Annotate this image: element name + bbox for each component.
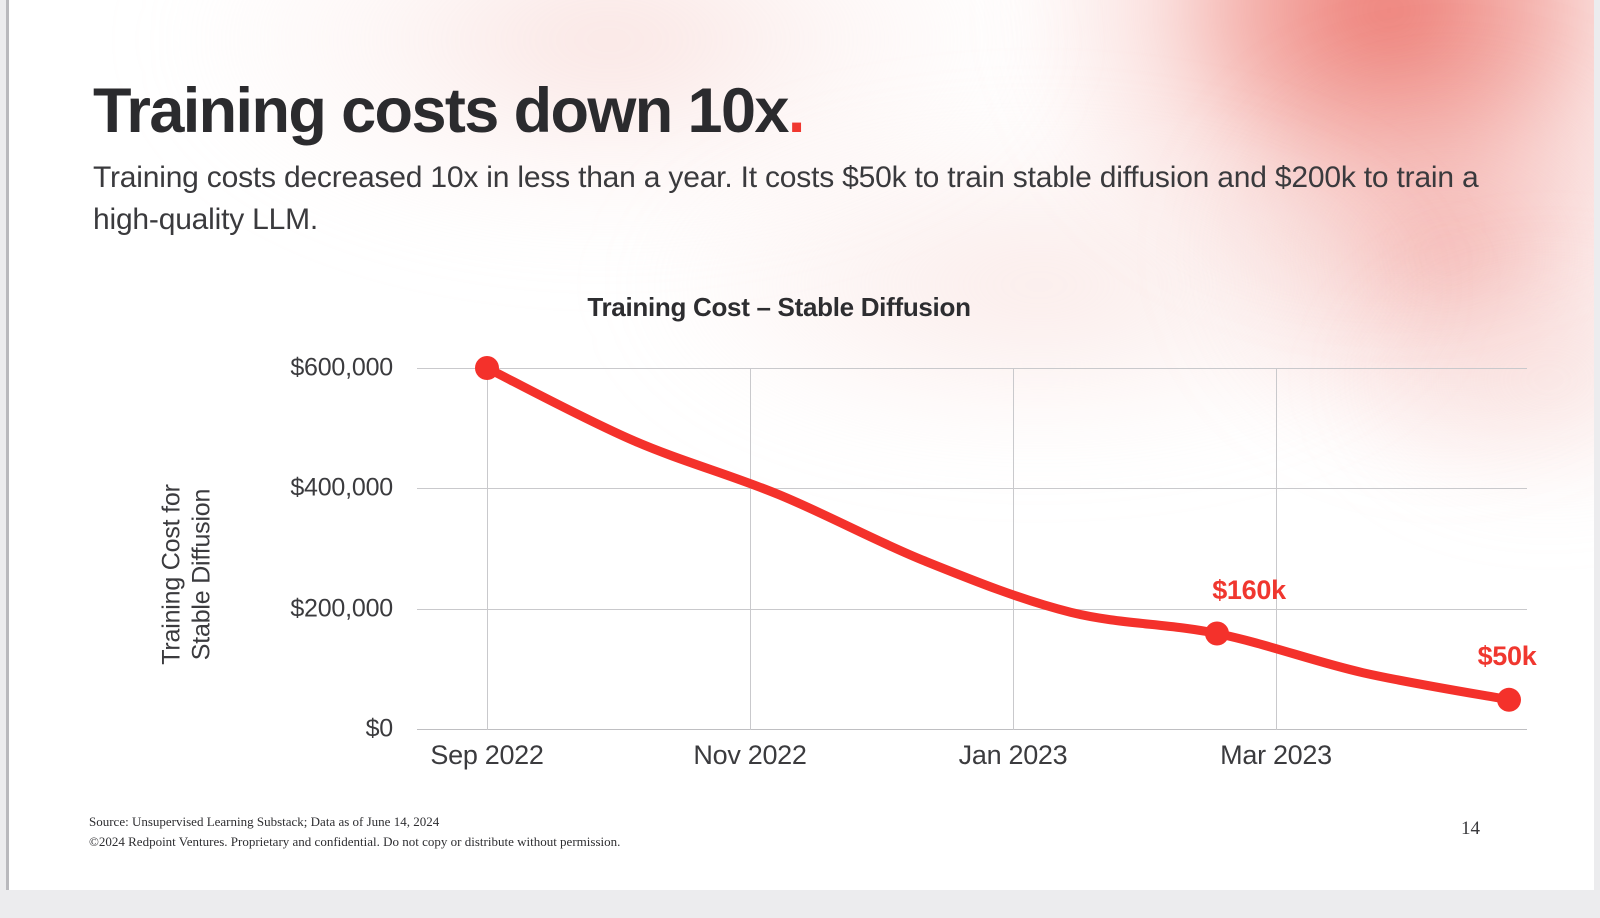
y-axis-title: Training Cost for Stable Diffusion	[158, 405, 217, 745]
slide-canvas: Training costs down 10x. Training costs …	[6, 0, 1594, 890]
series-marker	[1205, 622, 1229, 646]
footer-line-source: Source: Unsupervised Learning Substack; …	[89, 812, 620, 832]
series-marker	[1497, 688, 1521, 712]
footer-source-note: Source: Unsupervised Learning Substack; …	[89, 812, 620, 852]
chart-container: Training Cost – Stable Diffusion Trainin…	[79, 280, 1549, 800]
series-marker	[475, 356, 499, 380]
slide-root: Training costs down 10x. Training costs …	[0, 0, 1600, 918]
line-series-chart	[417, 368, 1527, 730]
page-title: Training costs down 10x.	[93, 78, 804, 144]
y-tick-label-0: $0	[215, 715, 415, 744]
y-axis-title-line-2: Stable Diffusion	[187, 489, 215, 660]
x-tick-label-sep-2022: Sep 2022	[430, 740, 543, 771]
x-tick-label-jan-2023: Jan 2023	[959, 740, 1068, 771]
slide-frame-bottom	[0, 890, 1600, 918]
series-marker-group	[475, 356, 1521, 712]
data-label-160k: $160k	[1212, 575, 1286, 606]
page-subtitle: Training costs decreased 10x in less tha…	[93, 157, 1513, 241]
y-tick-label-400000: $400,000	[215, 474, 415, 503]
y-tick-label-200000: $200,000	[215, 595, 415, 624]
data-label-50k: $50k	[1478, 641, 1537, 672]
page-title-text: Training costs down 10x	[93, 76, 788, 146]
y-tick-label-600000: $600,000	[215, 354, 415, 383]
footer-line-copyright: ©2024 Redpoint Ventures. Proprietary and…	[89, 832, 620, 852]
chart-title: Training Cost – Stable Diffusion	[79, 292, 1479, 323]
x-tick-label-mar-2023: Mar 2023	[1220, 740, 1332, 771]
y-axis-title-line-1: Training Cost for	[158, 484, 186, 664]
series-line-training-cost	[487, 368, 1509, 700]
title-accent-period: .	[788, 76, 804, 146]
x-tick-label-nov-2022: Nov 2022	[693, 740, 806, 771]
plot-area: $600,000 $400,000 $200,000 $0 Sep 2022 N…	[417, 368, 1527, 730]
page-number: 14	[1461, 818, 1480, 840]
